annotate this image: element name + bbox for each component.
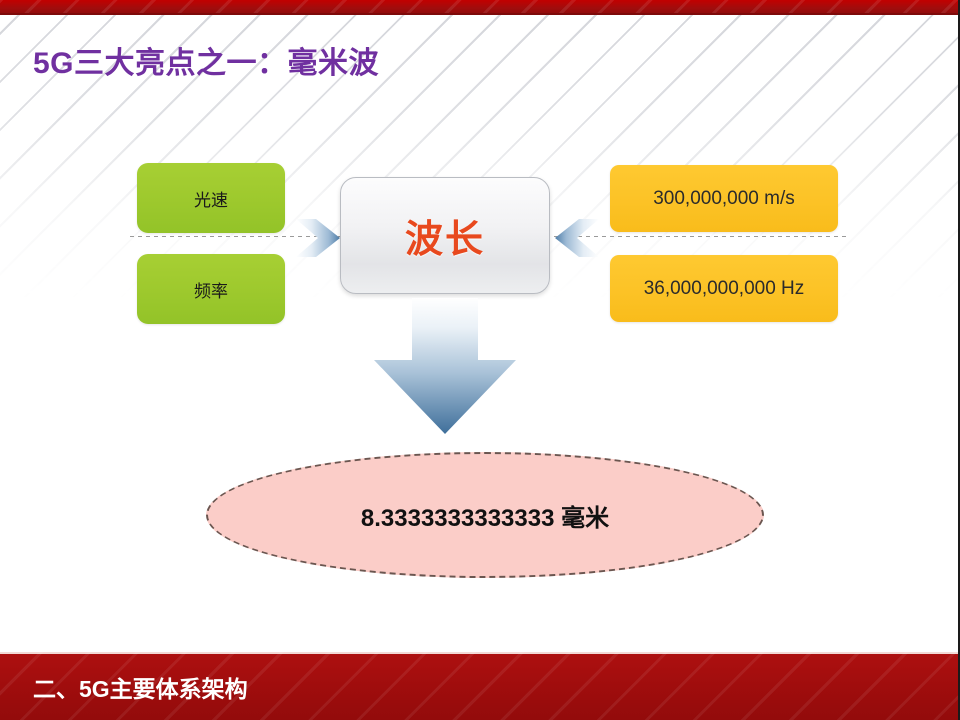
result-label: 8.3333333333333 毫米 xyxy=(361,498,609,533)
input-box-frequency[interactable]: 频率 xyxy=(137,254,285,324)
value-box-frequency[interactable]: 36,000,000,000 Hz xyxy=(610,255,838,322)
footer-section-label: 二、5G主要体系架构 xyxy=(33,670,248,704)
top-red-band xyxy=(0,0,960,15)
input-box-label: 频率 xyxy=(194,277,228,302)
arrow-down-icon xyxy=(372,298,518,443)
chevron-left-icon xyxy=(553,209,599,272)
slide-canvas: 5G三大亮点之一：毫米波 光速 频率 波长 xyxy=(0,0,960,720)
footer-band-top-edge xyxy=(0,652,960,654)
chevron-right-icon xyxy=(296,209,342,272)
input-box-label: 光速 xyxy=(194,186,228,211)
value-box-label: 36,000,000,000 Hz xyxy=(644,278,805,300)
center-box-label: 波长 xyxy=(405,208,485,263)
footer-red-band: 二、5G主要体系架构 xyxy=(0,652,960,720)
page-title: 5G三大亮点之一：毫米波 xyxy=(33,38,379,82)
top-band-edge xyxy=(0,13,960,15)
value-box-label: 300,000,000 m/s xyxy=(653,188,795,210)
value-box-speed-of-light[interactable]: 300,000,000 m/s xyxy=(610,165,838,232)
center-wavelength-box[interactable]: 波长 xyxy=(340,177,550,294)
input-box-speed-of-light[interactable]: 光速 xyxy=(137,163,285,233)
result-ellipse[interactable]: 8.3333333333333 毫米 xyxy=(206,452,764,578)
